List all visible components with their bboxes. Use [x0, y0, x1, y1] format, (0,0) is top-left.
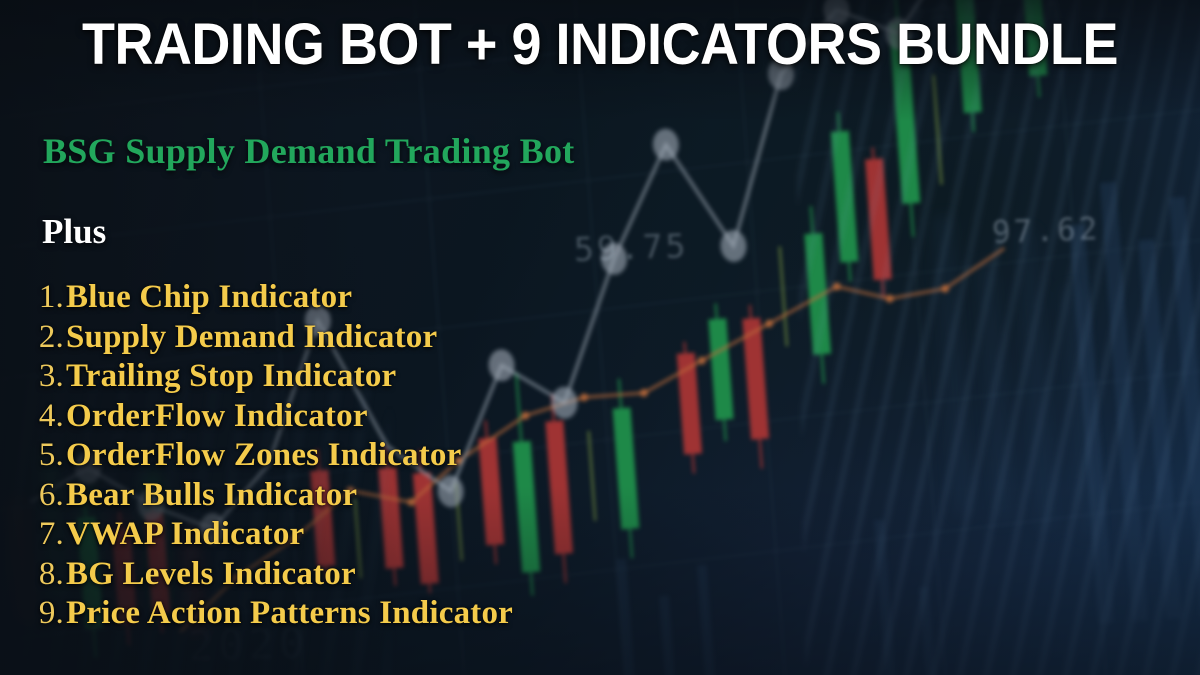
product-subtitle: BSG Supply Demand Trading Bot: [43, 130, 575, 172]
list-item: OrderFlow Zones Indicator: [66, 436, 766, 476]
page-title: TRADING BOT + 9 INDICATORS BUNDLE: [42, 16, 1158, 74]
promo-poster: 302.41 59.75 97.62 2020 TRADING BOT + 9 …: [0, 0, 1200, 675]
list-item: OrderFlow Indicator: [66, 397, 766, 437]
list-item: Blue Chip Indicator: [66, 278, 766, 318]
background-price-label-9762: 97.62: [991, 211, 1101, 251]
background-price-label-5975: 59.75: [573, 226, 689, 269]
list-item: BG Levels Indicator: [66, 555, 766, 595]
list-item: Supply Demand Indicator: [66, 318, 766, 358]
indicator-list: Blue Chip IndicatorSupply Demand Indicat…: [0, 278, 766, 634]
plus-label: Plus: [42, 212, 106, 252]
list-item: Trailing Stop Indicator: [66, 357, 766, 397]
list-item: VWAP Indicator: [66, 515, 766, 555]
list-item: Bear Bulls Indicator: [66, 476, 766, 516]
list-item: Price Action Patterns Indicator: [66, 594, 766, 634]
